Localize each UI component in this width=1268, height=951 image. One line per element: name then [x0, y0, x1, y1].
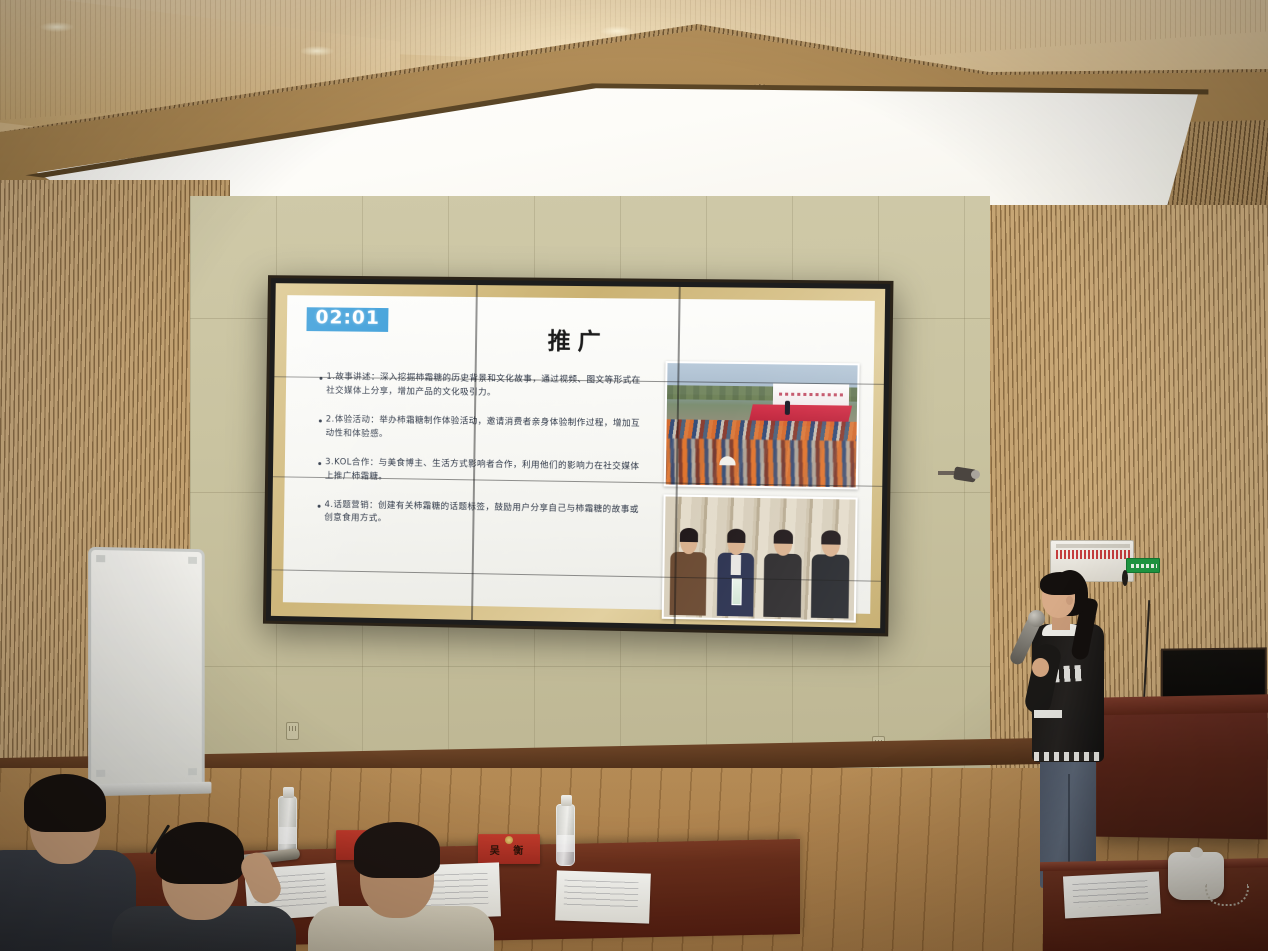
paper-sheet [555, 870, 651, 923]
outdoor-event-photo [664, 361, 860, 489]
judge-center [128, 818, 278, 951]
microphone-stand-head [1122, 570, 1128, 586]
microphone-head-icon [1028, 610, 1045, 627]
video-wall-screen: 02:01 推广 1.故事讲述：深入挖掘柿霜糖的历史背景和文化故事，通过视频、图… [271, 283, 885, 628]
power-outlet[interactable] [286, 722, 299, 740]
paper-sheet [1063, 872, 1161, 919]
emblem-icon [505, 836, 513, 844]
group-portrait-photo [662, 494, 858, 622]
bullet-dot-icon [319, 419, 322, 422]
nameplate-front: 吴 衡 [478, 834, 540, 864]
slide-bullet-item: 2.体验活动：举办柿霜糖制作体验活动，邀请消费者亲身体验制作过程，增加互动性和体… [319, 413, 647, 445]
conference-room-scene: 02:01 推广 1.故事讲述：深入挖掘柿霜糖的历史背景和文化故事，通过视频、图… [0, 0, 1268, 951]
downlight-icon [40, 22, 74, 32]
slide-bullet-item: 4.话题营销：创建有关柿霜糖的话题标签，鼓励用户分享自己与柿霜糖的故事或创意食用… [317, 498, 645, 531]
slide-bullet-text: 2.体验活动：举办柿霜糖制作体验活动，邀请消费者亲身体验制作过程，增加互动性和体… [325, 413, 646, 445]
slide-photo-group [662, 361, 860, 623]
water-bottle[interactable] [556, 804, 575, 866]
slide-bullet-item: 3.KOL合作：与美食博主、生活方式影响者合作，利用他们的影响力在社交媒体上推广… [318, 456, 646, 489]
slide-title: 推广 [287, 319, 875, 360]
student-presenter [1012, 566, 1108, 896]
exit-sign [1126, 558, 1160, 573]
security-camera-icon [938, 465, 976, 485]
slide-bullet-item: 1.故事讲述：深入挖掘柿霜糖的历史背景和文化故事，通过视频、图文等形式在社交媒体… [319, 371, 647, 403]
slide-canvas: 02:01 推广 1.故事讲述：深入挖掘柿霜糖的历史背景和文化故事，通过视频、图… [283, 295, 875, 614]
downlight-icon [600, 26, 634, 36]
slide-border: 02:01 推广 1.故事讲述：深入挖掘柿霜糖的历史背景和文化故事，通过视频、图… [271, 283, 885, 628]
judge-arm [237, 848, 286, 908]
slide-bullet-text: 4.话题营销：创建有关柿霜糖的话题标签，鼓励用户分享自己与柿霜糖的故事或创意食用… [324, 498, 645, 531]
judge-right [330, 820, 470, 951]
video-wall[interactable]: 02:01 推广 1.故事讲述：深入挖掘柿霜糖的历史背景和文化故事，通过视频、图… [263, 275, 894, 636]
roll-up-banner-stand [88, 547, 205, 787]
bullet-dot-icon [318, 462, 321, 465]
slide-bullet-list: 1.故事讲述：深入挖掘柿霜糖的历史背景和文化故事，通过视频、图文等形式在社交媒体… [317, 371, 647, 547]
podium [1096, 707, 1268, 840]
downlight-icon [300, 46, 334, 56]
slide-bullet-text: 3.KOL合作：与美食博主、生活方式影响者合作，利用他们的影响力在社交媒体上推广… [325, 456, 646, 489]
wall-seam [190, 666, 990, 667]
slide-bullet-text: 1.故事讲述：深入挖掘柿霜糖的历史背景和文化故事，通过视频、图文等形式在社交媒体… [326, 371, 647, 403]
bullet-dot-icon [318, 504, 321, 507]
